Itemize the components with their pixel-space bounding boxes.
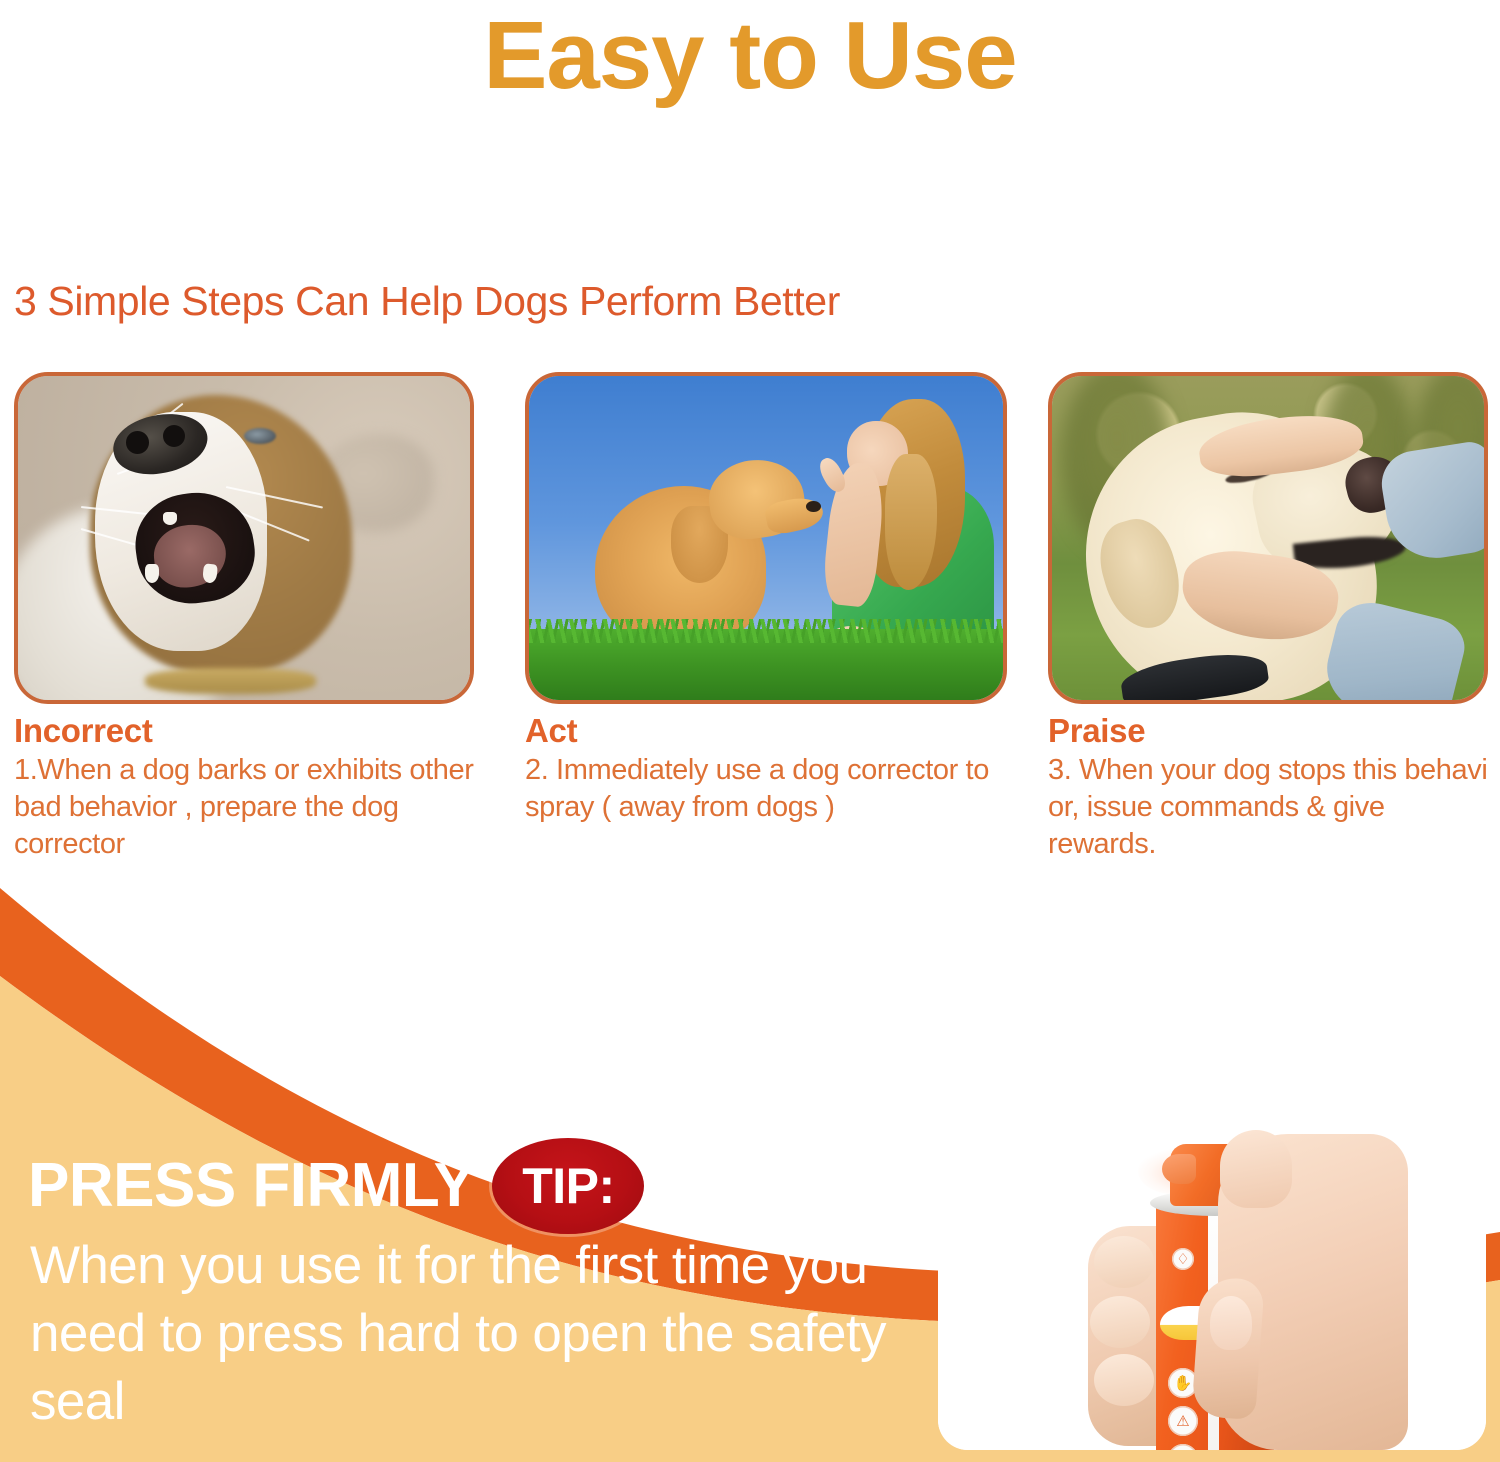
can-icon-droplet: ♢ (1172, 1248, 1194, 1270)
dog-collar-shape (145, 668, 317, 694)
droplet-icon: ♢ (1172, 1248, 1194, 1270)
product-scene: ♢ ✋ ⚠ ♻ Pet (938, 1128, 1486, 1450)
grass-foreground (529, 629, 1003, 700)
step-description: 3. When your dog stops this behavi or, i… (1048, 752, 1488, 863)
can-icon-no-flame: ⚠ (1168, 1406, 1198, 1436)
step-heading: Praise (1048, 712, 1488, 750)
step-heading: Act (525, 712, 1007, 750)
no-flame-icon: ⚠ (1168, 1406, 1198, 1436)
index-finger-on-nozzle (1220, 1130, 1292, 1208)
recycle-icon: ♻ (1168, 1444, 1198, 1450)
woman-commanding-dog-photo (525, 372, 1007, 704)
finger-knuckle (1090, 1296, 1150, 1348)
step-card-praise: Praise 3. When your dog stops this behav… (1048, 372, 1488, 863)
hand-holding-spray-can-photo: ♢ ✋ ⚠ ♻ Pet (938, 1128, 1486, 1450)
tip-description: When you use it for the first time you n… (30, 1232, 910, 1435)
press-firmly-row: PRESS FIRMLY TIP: (28, 1138, 644, 1234)
step-description: 1.When a dog barks or exhibits other bad… (14, 752, 474, 863)
can-icon-recycle: ♻ (1168, 1444, 1198, 1450)
step-heading: Incorrect (14, 712, 474, 750)
finger-knuckle (1094, 1236, 1154, 1288)
page-subtitle: 3 Simple Steps Can Help Dogs Perform Bet… (14, 278, 840, 325)
press-firmly-title: PRESS FIRMLY (28, 1155, 474, 1217)
finger-knuckle (1094, 1354, 1154, 1406)
dog-tooth (163, 512, 177, 525)
thumb-nail (1210, 1296, 1252, 1350)
step-description: 2. Immediately use a dog corrector to sp… (525, 752, 1007, 826)
step-card-act: Act 2. Immediately use a dog corrector t… (525, 372, 1007, 826)
page-title: Easy to Use (0, 6, 1500, 107)
dog-eye-shape (244, 428, 276, 444)
dog-nostril (126, 431, 149, 454)
training-scene (529, 376, 1003, 700)
barking-dog-photo (14, 372, 474, 704)
barking-dog-scene (18, 376, 470, 700)
can-nozzle-tip (1162, 1154, 1196, 1184)
person-petting-dog-photo (1048, 372, 1488, 704)
tip-badge-label: TIP: (522, 1161, 614, 1211)
steps-row: Incorrect 1.When a dog barks or exhibits… (0, 372, 1500, 852)
step-card-incorrect: Incorrect 1.When a dog barks or exhibits… (14, 372, 474, 863)
infographic-page: Easy to Use 3 Simple Steps Can Help Dogs… (0, 0, 1500, 1462)
petting-scene (1052, 376, 1484, 700)
tip-badge: TIP: (492, 1138, 644, 1234)
